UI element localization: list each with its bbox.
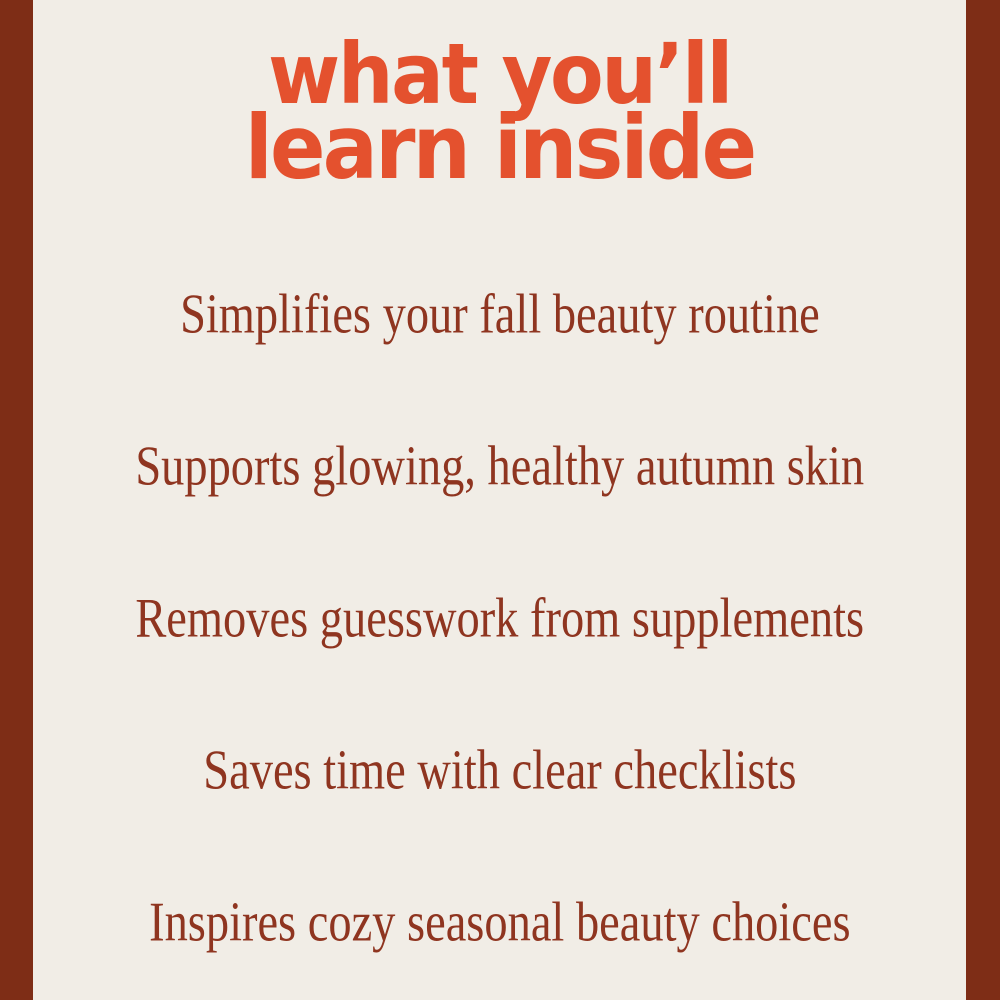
benefit-item-5-label: Inspires cozy seasonal beauty choices (149, 843, 851, 1000)
benefit-item-4: Saves time with clear checklists (33, 694, 966, 846)
benefits-list: Simplifies your fall beauty routine Supp… (33, 238, 966, 998)
benefit-item-4-label: Saves time with clear checklists (203, 691, 796, 849)
page-title-line-2: learn inside (66, 110, 934, 186)
benefit-item-1-label: Simplifies your fall beauty routine (180, 235, 820, 393)
benefit-item-2-label: Supports glowing, healthy autumn skin (135, 387, 864, 545)
benefit-item-5: Inspires cozy seasonal beauty choices (33, 846, 966, 998)
benefit-item-3-label: Removes guesswork from supplements (135, 539, 864, 697)
benefit-item-2: Supports glowing, healthy autumn skin (33, 390, 966, 542)
left-border-bar (0, 0, 33, 1000)
poster-canvas: what you’ll learn inside Simplifies your… (0, 0, 1000, 1000)
right-border-bar (966, 0, 1000, 1000)
page-title: what you’ll learn inside (33, 38, 966, 186)
poster-content: what you’ll learn inside Simplifies your… (33, 0, 966, 1000)
benefit-item-1: Simplifies your fall beauty routine (33, 238, 966, 390)
benefit-item-3: Removes guesswork from supplements (33, 542, 966, 694)
